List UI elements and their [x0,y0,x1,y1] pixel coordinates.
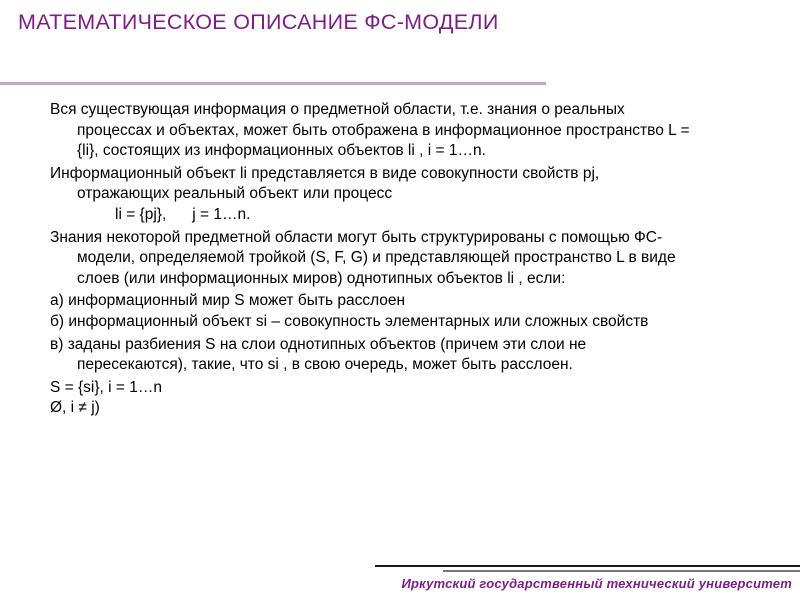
formula-right: j = 1…n. [192,206,250,223]
footer-divider-top [375,565,800,567]
body-paragraph-2: Информационный объект li представляется … [0,164,800,205]
slide-body: Вся существующая информация о предметной… [0,100,800,419]
list-item-b: б) информационный объект si – совокупнос… [0,312,800,333]
slide-title-block: МАТЕМАТИЧЕСКОЕ ОПИСАНИЕ ФС-МОДЕЛИ [18,10,758,35]
slide-canvas: МАТЕМАТИЧЕСКОЕ ОПИСАНИЕ ФС-МОДЕЛИ Вся су… [0,0,800,600]
footer-organization-label: Иркутский государственный технический ун… [0,576,792,591]
list-item-v: в) заданы разбиения S на слои однотипных… [0,335,800,376]
body-formula-s-set: S = {si}, i = 1…n [0,378,800,399]
title-divider-rule [0,82,546,85]
list-item-a: а) информационный мир S может быть рассл… [0,291,800,312]
body-paragraph-1: Вся существующая информация о предметной… [0,100,800,162]
page-title: МАТЕМАТИЧЕСКОЕ ОПИСАНИЕ ФС-МОДЕЛИ [18,10,758,35]
formula-left: li = {pj}, [115,206,166,223]
footer-divider-bottom [443,570,800,572]
body-formula-empty-set: Ø, i ≠ j) [0,398,800,419]
body-paragraph-4: Знания некоторой предметной области могу… [0,228,800,290]
body-formula-line: li = {pj},j = 1…n. [0,205,800,226]
